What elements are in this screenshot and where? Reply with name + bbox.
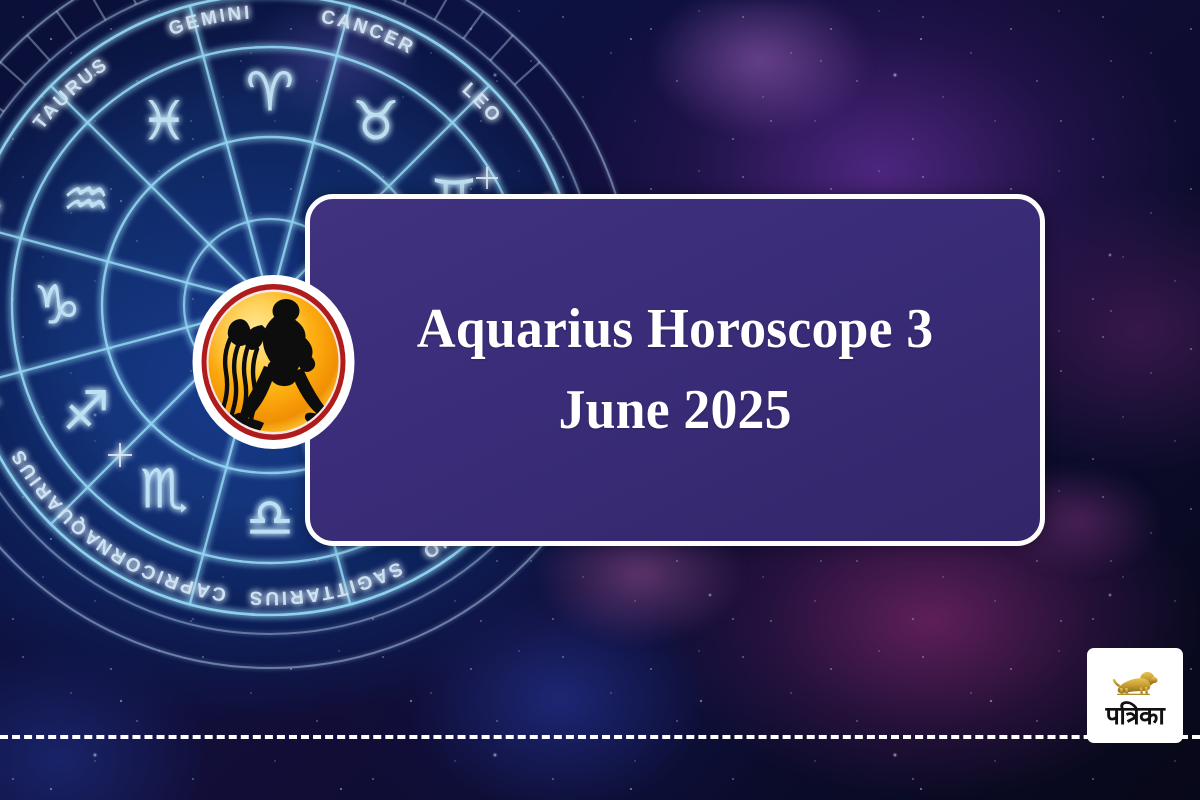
- page-title-line-1: Aquarius Horoscope 3: [417, 298, 934, 360]
- horoscope-graphic: ARIES TAURUS GEMINI CANCER LEO VIRGO LIB…: [0, 0, 1200, 800]
- page-title-line-2: June 2025: [558, 379, 791, 441]
- wheel-glyph-aquarius: ♒: [62, 168, 110, 231]
- wheel-glyph-pisces: ♓: [140, 90, 188, 153]
- title-card: Aquarius Horoscope 3 June 2025: [305, 194, 1045, 546]
- dashed-divider: [0, 735, 1200, 739]
- wheel-glyph-libra: ♎: [246, 487, 294, 550]
- page-title: Aquarius Horoscope 3 June 2025: [380, 289, 970, 451]
- patrika-logo[interactable]: पत्रिका: [1087, 648, 1183, 743]
- wheel-glyph-aries: ♈: [246, 61, 294, 124]
- lion-icon: [1110, 667, 1160, 697]
- wheel-glyph-sagittarius: ♐: [62, 380, 110, 443]
- wheel-glyph-taurus: ♉: [352, 90, 400, 153]
- aquarius-zodiac-badge: [190, 273, 357, 451]
- wheel-glyph-capricorn: ♑: [33, 274, 81, 337]
- wheel-glyph-scorpio: ♏: [140, 458, 188, 521]
- patrika-wordmark: पत्रिका: [1106, 704, 1165, 729]
